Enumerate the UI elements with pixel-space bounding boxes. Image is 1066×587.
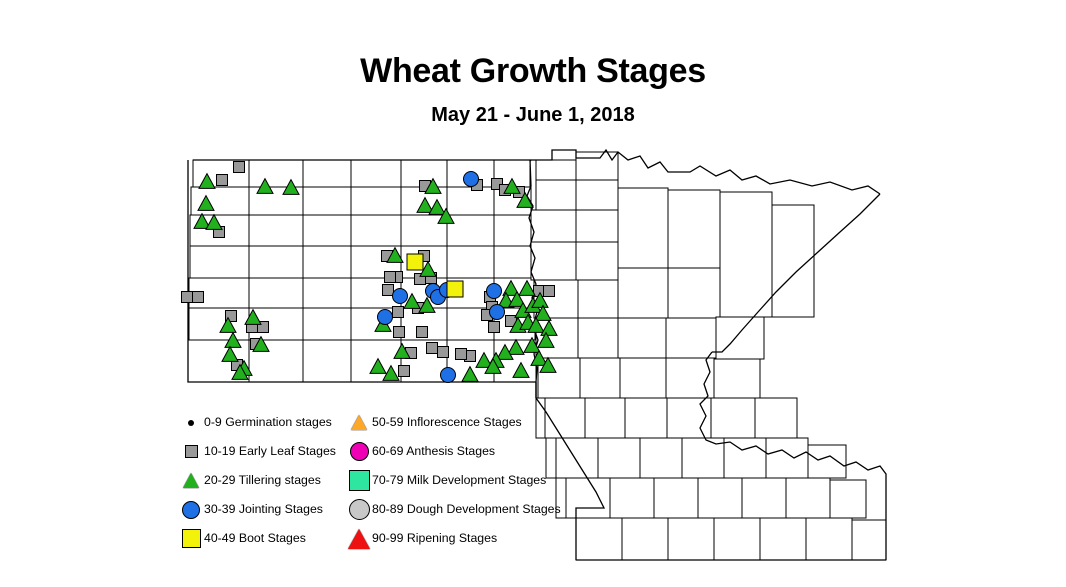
map-marker-early-leaf (385, 272, 396, 283)
map-marker-boot (407, 254, 423, 270)
legend-swatch (348, 529, 370, 549)
legend-symbol-square-icon (178, 526, 204, 552)
map-marker-early-leaf (427, 343, 438, 354)
legend-label: 50-59 Inflorescence Stages (372, 416, 522, 428)
map-marker-jointing (464, 172, 479, 187)
map-marker-jointing (490, 305, 505, 320)
legend-symbol-triangle-icon (346, 410, 372, 436)
legend-item: 60-69 Anthesis Stages (346, 437, 561, 466)
legend-label: 40-49 Boot Stages (204, 532, 306, 544)
map-marker-boot (447, 281, 463, 297)
legend-label: 70-79 Milk Development Stages (372, 474, 546, 486)
map-marker-jointing (487, 284, 502, 299)
map-marker-early-leaf (456, 349, 467, 360)
legend-item: 80-89 Dough Development Stages (346, 495, 561, 524)
legend-item: 50-59 Inflorescence Stages (346, 408, 561, 437)
legend-swatch (349, 499, 370, 520)
map-marker-early-leaf (393, 307, 404, 318)
legend-item: 30-39 Jointing Stages (178, 495, 336, 524)
map-marker-early-leaf (394, 327, 405, 338)
legend-swatch (183, 473, 199, 488)
legend-item: 10-19 Early Leaf Stages (178, 437, 336, 466)
legend-item: 20-29 Tillering stages (178, 466, 336, 495)
legend-symbol-circle-icon (346, 439, 372, 465)
page-subtitle: May 21 - June 1, 2018 (0, 104, 1066, 127)
legend-symbol-square-icon (178, 439, 204, 465)
legend-column-left: 0-9 Germination stages10-19 Early Leaf S… (178, 408, 336, 553)
legend-symbol-triangle-icon (178, 468, 204, 494)
legend-symbol-circle-icon (346, 497, 372, 523)
map-marker-jointing (378, 310, 393, 325)
legend-label: 0-9 Germination stages (204, 416, 332, 428)
map-marker-early-leaf (417, 327, 428, 338)
legend-swatch (182, 501, 200, 519)
legend-swatch (182, 529, 201, 548)
map-marker-early-leaf (544, 286, 555, 297)
legend-swatch (185, 445, 198, 458)
legend-item: 40-49 Boot Stages (178, 524, 336, 553)
legend-symbol-square-icon (346, 468, 372, 494)
legend-label: 60-69 Anthesis Stages (372, 445, 495, 457)
map-marker-early-leaf (489, 322, 500, 333)
legend-symbol-dot-icon (178, 410, 204, 436)
map-marker-early-leaf (217, 175, 228, 186)
map-marker-early-leaf (193, 292, 204, 303)
legend-swatch (188, 420, 194, 426)
map-marker-early-leaf (182, 292, 193, 303)
map-marker-early-leaf (383, 285, 394, 296)
legend-column-right: 50-59 Inflorescence Stages60-69 Anthesis… (346, 408, 561, 553)
map-marker-early-leaf (234, 162, 245, 173)
legend-label: 20-29 Tillering stages (204, 474, 321, 486)
legend-symbol-circle-icon (178, 497, 204, 523)
legend-swatch (349, 470, 370, 491)
map-marker-jointing (441, 368, 456, 383)
legend-label: 10-19 Early Leaf Stages (204, 445, 336, 457)
legend-swatch (351, 415, 367, 430)
legend-symbol-triangle-icon (346, 526, 372, 552)
legend-label: 90-99 Ripening Stages (372, 532, 497, 544)
legend: 0-9 Germination stages10-19 Early Leaf S… (178, 408, 578, 548)
legend-item: 70-79 Milk Development Stages (346, 466, 561, 495)
legend-item: 0-9 Germination stages (178, 408, 336, 437)
legend-swatch (350, 442, 369, 461)
map-marker-early-leaf (438, 347, 449, 358)
legend-label: 80-89 Dough Development Stages (372, 503, 561, 515)
legend-item: 90-99 Ripening Stages (346, 524, 561, 553)
map-marker-early-leaf (399, 366, 410, 377)
map-marker-jointing (393, 289, 408, 304)
legend-label: 30-39 Jointing Stages (204, 503, 323, 515)
page-title: Wheat Growth Stages (0, 52, 1066, 91)
